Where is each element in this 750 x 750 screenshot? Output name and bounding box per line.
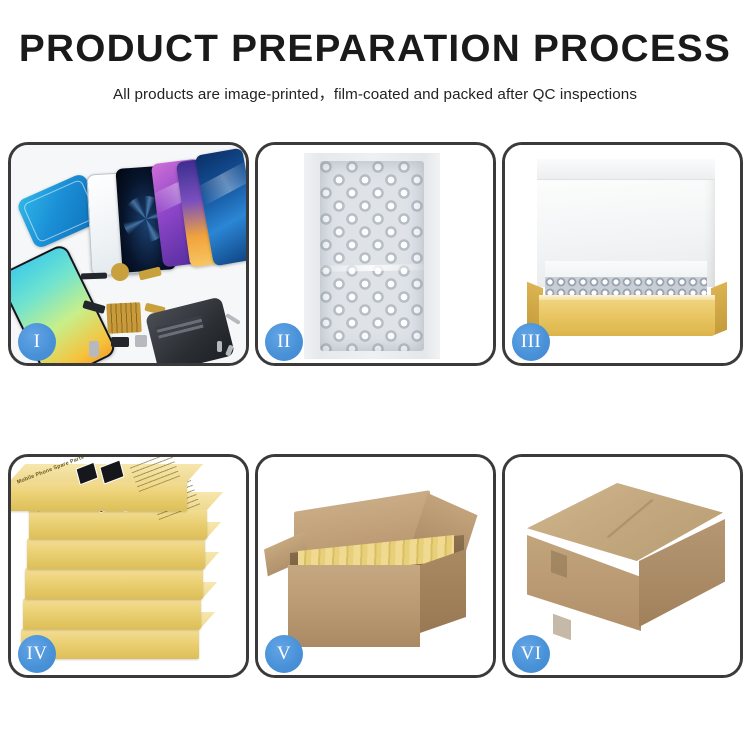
part-vibrator — [135, 335, 147, 347]
step-panel-4: Mobile Phone Spare Parts Mobile Phone Sp… — [8, 454, 249, 678]
inner-box-front-panel — [539, 300, 715, 336]
step-panel-6: VI — [502, 454, 743, 678]
step-panel-3: III — [502, 142, 743, 366]
part-speaker-mesh — [81, 273, 107, 280]
carton-front-panel — [288, 565, 420, 647]
part-sim-tray — [89, 341, 99, 357]
step-badge-1: I — [18, 323, 56, 361]
stacked-box-item: Mobile Phone Spare Parts — [11, 481, 187, 511]
product-preparation-process-infographic: PRODUCT PREPARATION PROCESS All products… — [0, 0, 750, 750]
stacked-box-item — [23, 599, 201, 629]
step-panel-5: V — [255, 454, 496, 678]
box-artwork-spec-lines — [130, 457, 180, 492]
process-steps-grid: I II III — [8, 142, 744, 678]
inner-box-lid-fold — [537, 159, 715, 180]
step-panel-1: I — [8, 142, 249, 366]
step-badge-5: V — [265, 635, 303, 673]
sealed-carton-tape-lower — [553, 614, 571, 641]
page-subtitle: All products are image-printed，film-coat… — [0, 82, 750, 104]
part-gold-coil — [111, 263, 129, 281]
stacked-box-item: Mobile Phone Spare Parts — [29, 509, 207, 539]
part-camera-module — [111, 337, 129, 347]
step-badge-6: VI — [512, 635, 550, 673]
stacked-box-item — [27, 539, 205, 569]
page-title: PRODUCT PREPARATION PROCESS — [0, 28, 750, 71]
part-ic-chip-array — [106, 302, 142, 334]
step-panel-2: II — [255, 142, 496, 366]
header: PRODUCT PREPARATION PROCESS All products… — [0, 0, 750, 104]
step-badge-3: III — [512, 323, 550, 361]
bubble-wrap-wrapped-item — [320, 161, 424, 351]
stacked-box-item — [25, 569, 203, 599]
step-badge-2: II — [265, 323, 303, 361]
part-screwdriver — [225, 313, 241, 325]
part-screw-a — [217, 341, 222, 352]
step-badge-4: IV — [18, 635, 56, 673]
